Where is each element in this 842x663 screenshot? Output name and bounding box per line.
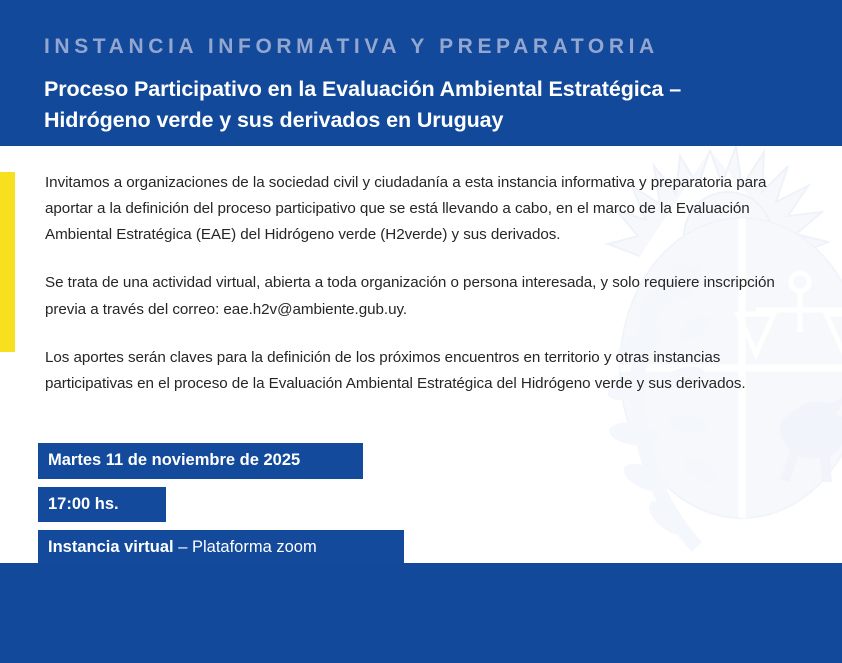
event-place-bold: Instancia virtual (48, 538, 174, 556)
poster-footer (0, 563, 842, 663)
event-time-chip: 17:00 hs. (38, 487, 166, 523)
body-paragraph-3: Los aportes serán claves para la definic… (45, 345, 787, 397)
page-title: Proceso Participativo en la Evaluación A… (44, 74, 784, 135)
header-eyebrow: INSTANCIA INFORMATIVA Y PREPARATORIA (44, 36, 659, 57)
poster-body: Invitamos a organizaciones de la socieda… (45, 170, 787, 397)
page-title-line-2: Hidrógeno verde y sus derivados en Urugu… (44, 105, 784, 136)
body-paragraph-1: Invitamos a organizaciones de la socieda… (45, 170, 787, 248)
event-poster: INSTANCIA INFORMATIVA Y PREPARATORIA Pro… (0, 0, 842, 663)
event-time-row: 17:00 hs. (38, 487, 404, 531)
event-details: Martes 11 de noviembre de 2025 17:00 hs.… (38, 443, 404, 574)
event-date-chip: Martes 11 de noviembre de 2025 (38, 443, 363, 479)
event-place-chip: Instancia virtual – Plataforma zoom (38, 530, 404, 566)
page-title-line-1: Proceso Participativo en la Evaluación A… (44, 74, 784, 105)
left-yellow-accent-bar (0, 172, 15, 352)
body-paragraph-2: Se trata de una actividad virtual, abier… (45, 270, 787, 322)
event-place-light: – Plataforma zoom (174, 538, 317, 556)
event-date-row: Martes 11 de noviembre de 2025 (38, 443, 404, 487)
poster-header: INSTANCIA INFORMATIVA Y PREPARATORIA Pro… (0, 0, 842, 146)
